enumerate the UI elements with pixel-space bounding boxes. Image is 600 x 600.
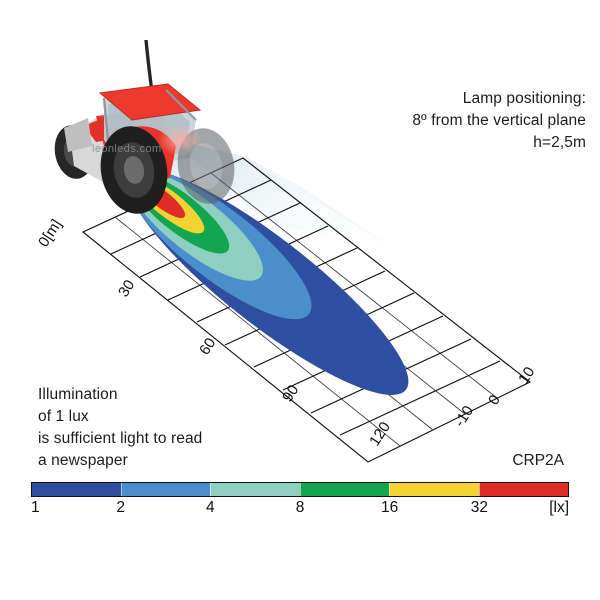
lamp-note-line-3: h=2,5m [412,132,586,154]
illum-note-line-2: of 1 lux [38,406,202,428]
tractor [51,40,241,219]
work-lamp-glow [158,124,202,156]
colorbar-segment-4 [210,483,300,496]
axis-tick-30: 30 [115,277,138,300]
colorbar-gradient [31,482,569,497]
colorbar-ticks: 12481632[lx] [31,499,569,521]
colorbar-segment-8 [300,483,390,496]
lateral-tick-0: 0 [485,392,504,408]
colorbar-segment-32 [479,483,569,496]
axis-label-origin: 0[m] [35,216,65,250]
lateral-tick-minus-10: -10 [451,403,477,430]
colorbar-tick-8: 8 [296,499,305,517]
axis-tick-90: 90 [279,382,302,405]
lateral-tick-10: 10 [515,364,538,387]
colorbar-tick-32: 32 [471,499,488,517]
axis-tick-120: 120 [366,419,394,449]
lamp-positioning-note: Lamp positioning: 8º from the vertical p… [412,88,586,154]
colorbar-tick-2: 2 [116,499,125,517]
lamp-note-line-1: Lamp positioning: [412,88,586,110]
watermark: leonleds.com [92,143,162,155]
colorbar-segment-1 [32,483,121,496]
lamp-note-line-2: 8º from the vertical plane [412,110,586,132]
colorbar-legend: CRP2A 12481632[lx] [0,452,600,522]
colorbar-tick-16: 16 [381,499,398,517]
colorbar-unit: [lx] [549,499,569,517]
figure-root: leonleds.com 0[m] 30 60 90 120 10 0 -10 … [0,0,600,600]
colorbar-tick-1: 1 [31,499,40,517]
illum-note-line-3: is sufficient light to read [38,428,202,450]
colorbar-segment-16 [389,483,479,496]
colorbar-tick-4: 4 [206,499,215,517]
axis-tick-60: 60 [196,335,219,358]
colorbar-segment-2 [121,483,211,496]
product-label: CRP2A [512,452,564,470]
illum-note-line-1: Illumination [38,384,202,406]
